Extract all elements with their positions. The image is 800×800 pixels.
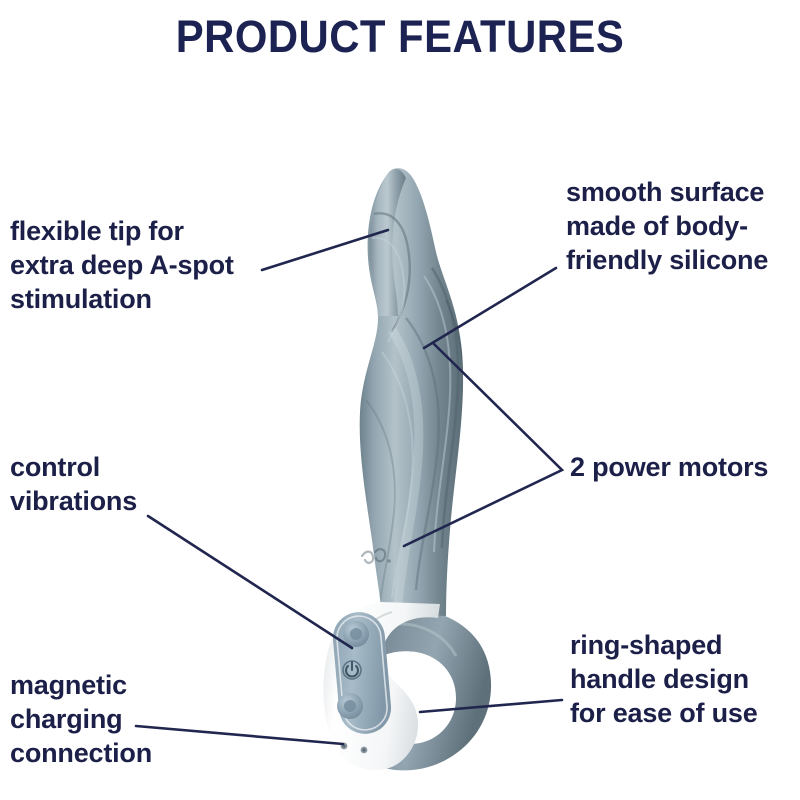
intensity-button-up[interactable] [343, 621, 369, 647]
silicone-shaft [360, 168, 466, 616]
callout-flexible-tip: flexible tip for extra deep A-spot stimu… [10, 214, 340, 316]
power-button[interactable] [343, 661, 361, 679]
product-features-diagram: PRODUCT FEATURES [0, 0, 800, 800]
callout-ring-handle: ring-shaped handle design for ease of us… [570, 628, 800, 730]
callout-smooth-surface: smooth surface made of body- friendly si… [566, 175, 800, 277]
callout-control-vibrations: control vibrations [10, 450, 310, 518]
callout-magnetic-charging: magnetic charging connection [10, 668, 310, 770]
callout-power-motors: 2 power motors [570, 450, 800, 484]
intensity-button-down[interactable] [337, 693, 363, 719]
